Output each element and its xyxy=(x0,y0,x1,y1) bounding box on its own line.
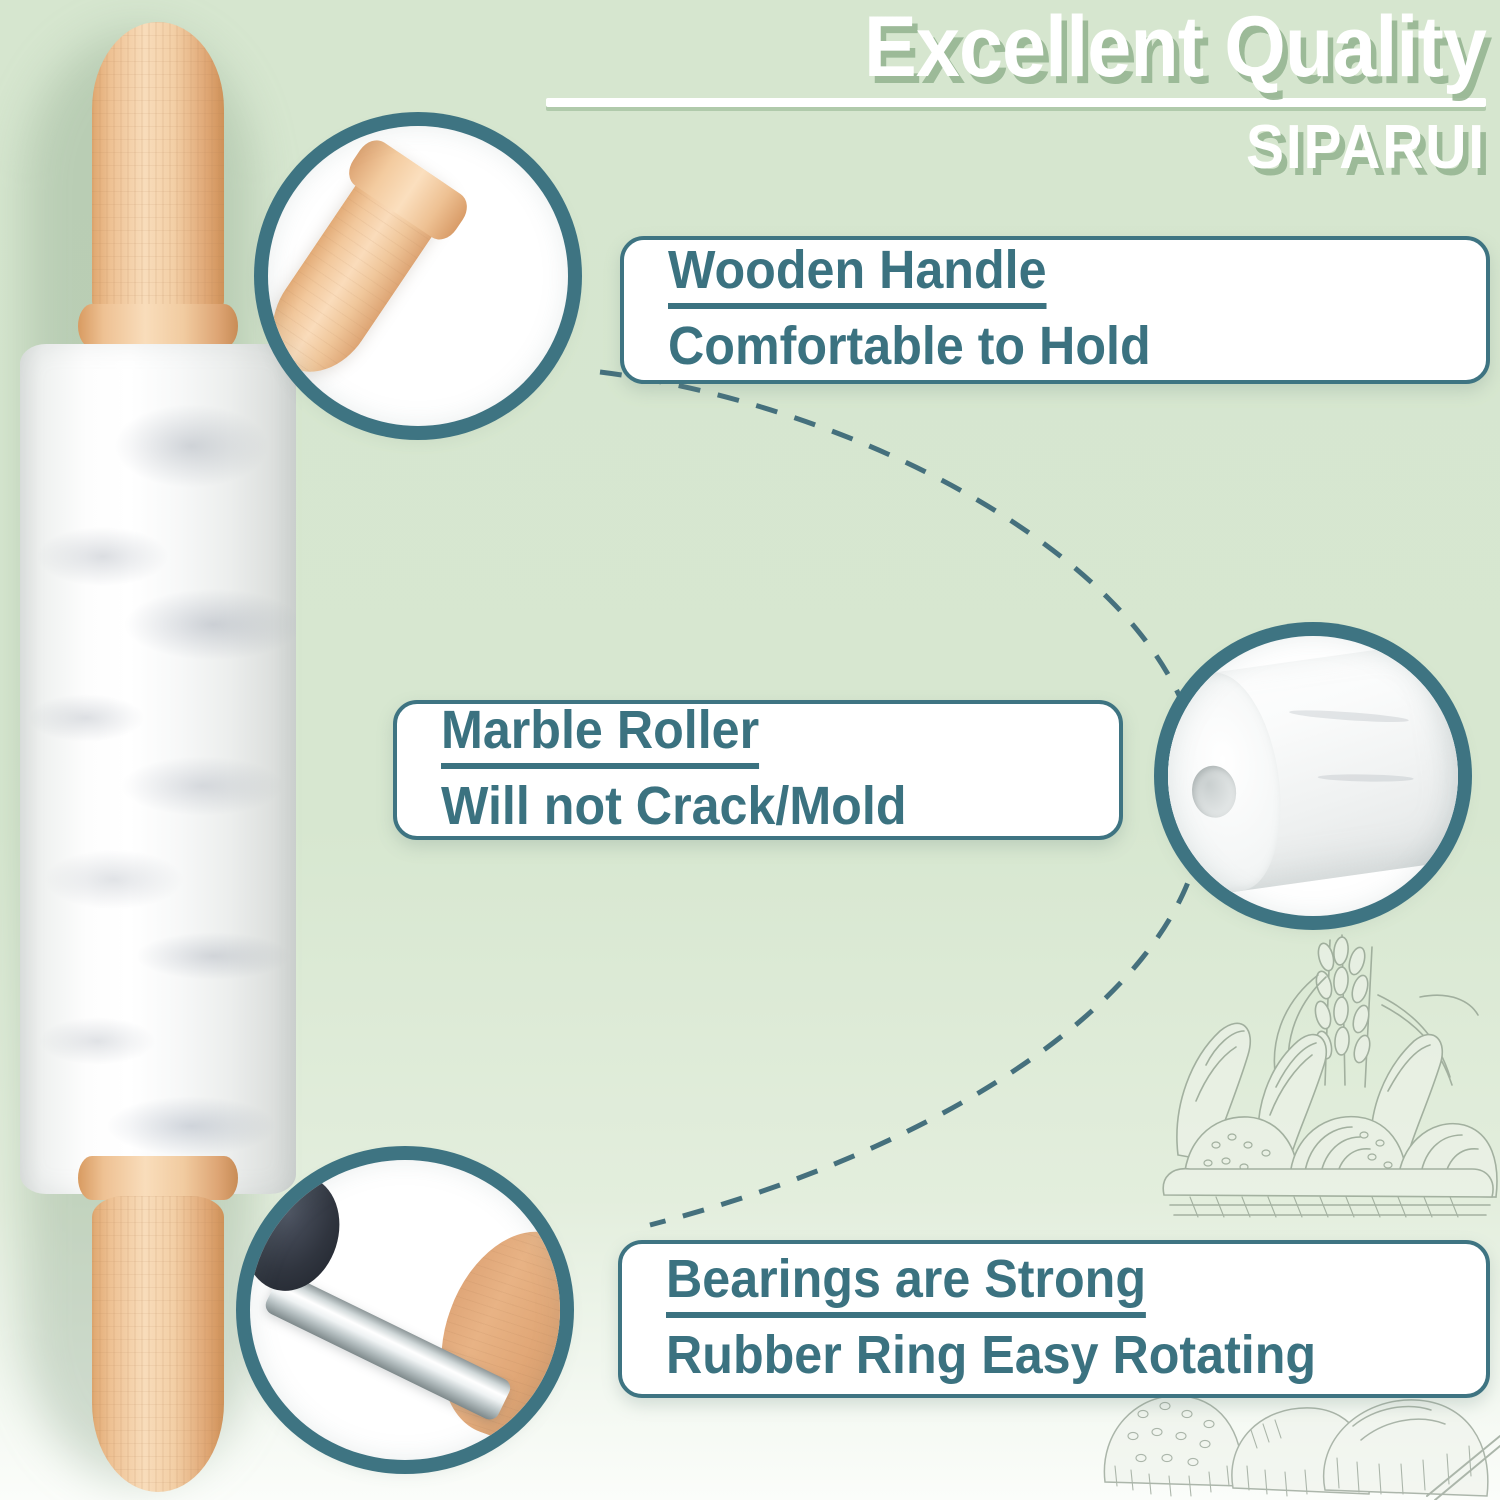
feature-title-marble-roller: Marble Roller xyxy=(441,701,759,769)
headline-underline xyxy=(546,98,1486,107)
feature-callout-bearings: Bearings are Strong Rubber Ring Easy Rot… xyxy=(618,1240,1490,1398)
feature-title-bearings: Bearings are Strong xyxy=(666,1250,1146,1318)
headline-block: Excellent Quality SIPARUI xyxy=(506,4,1486,179)
inset-inner-shadow xyxy=(250,1160,560,1460)
inset-wooden-handle-photo xyxy=(268,126,568,426)
headline-title: Excellent Quality xyxy=(584,4,1486,90)
marble-roller-body xyxy=(20,344,296,1194)
inset-marble-roller-photo xyxy=(1168,636,1458,916)
inset-inner-shadow xyxy=(268,126,568,426)
feature-callout-wooden-handle: Wooden Handle Comfortable to Hold xyxy=(620,236,1490,384)
handle-collar-top xyxy=(78,304,238,348)
feature-callout-marble-roller: Marble Roller Will not Crack/Mold xyxy=(393,700,1123,840)
brand-name: SIPARUI xyxy=(584,117,1486,179)
inset-inner-shadow xyxy=(1168,636,1458,916)
feature-subtitle-wooden-handle: Comfortable to Hold xyxy=(668,317,1429,375)
feature-title-wooden-handle: Wooden Handle xyxy=(668,241,1047,309)
feature-subtitle-bearings: Rubber Ring Easy Rotating xyxy=(666,1326,1429,1384)
wooden-handle-bottom xyxy=(92,1196,224,1492)
feature-subtitle-marble-roller: Will not Crack/Mold xyxy=(441,777,1072,835)
wooden-handle-top xyxy=(92,22,224,322)
handle-collar-bottom xyxy=(78,1156,238,1200)
inset-bearing-photo xyxy=(250,1160,560,1460)
infographic-canvas: Excellent Quality SIPARUI Wooden Handle … xyxy=(0,0,1500,1500)
